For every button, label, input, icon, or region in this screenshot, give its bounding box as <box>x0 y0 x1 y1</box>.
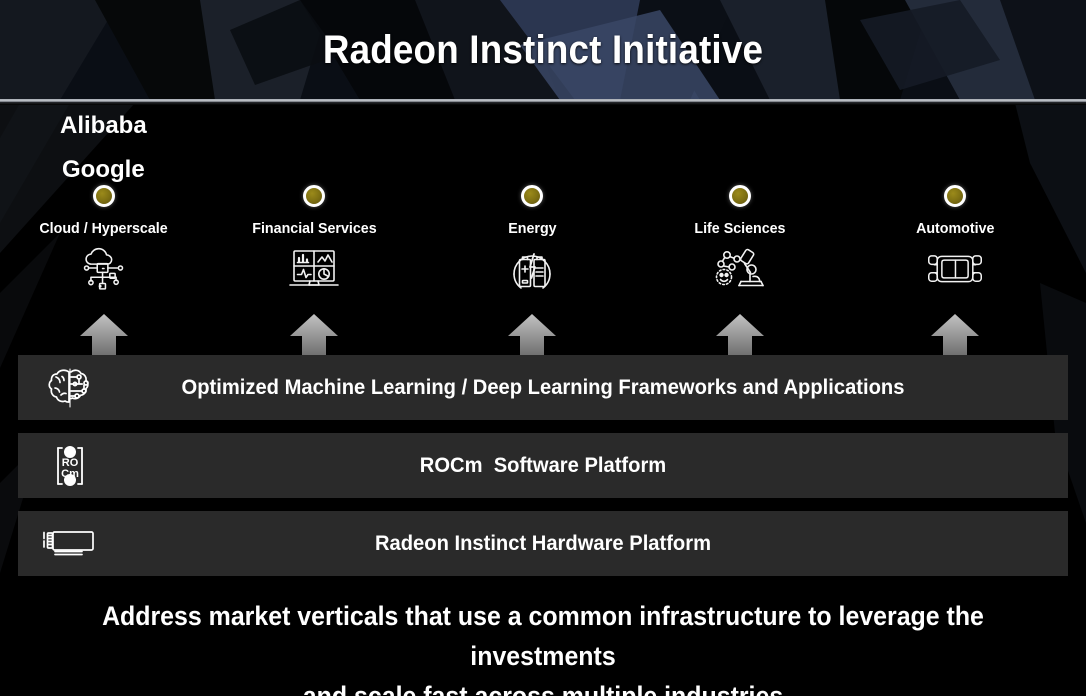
vertical-bullet-dot <box>93 185 115 207</box>
stack-bar-label: Optimized Machine Learning / Deep Learni… <box>39 376 1047 400</box>
platform-stack: Optimized Machine Learning / Deep Learni… <box>18 355 1068 589</box>
header-banner: Radeon Instinct Initiative <box>0 0 1086 100</box>
page-title: Radeon Instinct Initiative <box>43 0 1042 100</box>
arrow-up-icon <box>76 312 132 356</box>
car-topview-icon <box>925 246 985 292</box>
stack-bar-label: ROCm Software Platform <box>39 454 1047 478</box>
vertical-cloud-hyperscale[interactable]: Cloud / Hyperscale <box>4 185 204 292</box>
slide-root: Radeon Instinct Initiative Alibaba Googl… <box>0 0 1086 696</box>
vertical-label: Energy <box>508 220 556 237</box>
footer-statement: Address market verticals that use a comm… <box>53 596 1032 696</box>
callout-google: Google <box>62 156 145 184</box>
vertical-bullet-dot <box>303 185 325 207</box>
arrow-up-icon <box>286 312 342 356</box>
battery-power-icon <box>502 246 562 292</box>
stack-bar-rocm[interactable]: RO Cm ROCm Software Platform <box>18 433 1068 498</box>
vertical-bullet-dot <box>944 185 966 207</box>
stack-bar-label: Radeon Instinct Hardware Platform <box>39 532 1047 556</box>
stack-bar-hardware[interactable]: Radeon Instinct Hardware Platform <box>18 511 1068 576</box>
arrow-up-icon <box>927 312 983 356</box>
vertical-label: Financial Services <box>252 220 376 237</box>
vertical-financial-services[interactable]: Financial Services <box>214 185 414 292</box>
vertical-life-sciences[interactable]: Life Sciences <box>640 185 840 292</box>
arrow-up-icon <box>504 312 560 356</box>
header-divider-shadow <box>0 102 1086 105</box>
vertical-automotive[interactable]: Automotive <box>855 185 1055 292</box>
stack-bar-frameworks[interactable]: Optimized Machine Learning / Deep Learni… <box>18 355 1068 420</box>
analytics-dashboard-icon <box>284 246 344 292</box>
cloud-network-icon <box>74 246 134 292</box>
microscope-icon <box>710 246 770 292</box>
vertical-energy[interactable]: Energy <box>432 185 632 292</box>
callout-alibaba: Alibaba <box>60 112 147 140</box>
vertical-bullet-dot <box>521 185 543 207</box>
vertical-label: Automotive <box>916 220 994 237</box>
arrow-up-icon <box>712 312 768 356</box>
vertical-bullet-dot <box>729 185 751 207</box>
vertical-label: Cloud / Hyperscale <box>40 220 168 237</box>
market-verticals-row: Cloud / Hyperscale <box>0 185 1086 330</box>
vertical-label: Life Sciences <box>694 220 785 237</box>
upward-arrows-row <box>0 312 1086 358</box>
